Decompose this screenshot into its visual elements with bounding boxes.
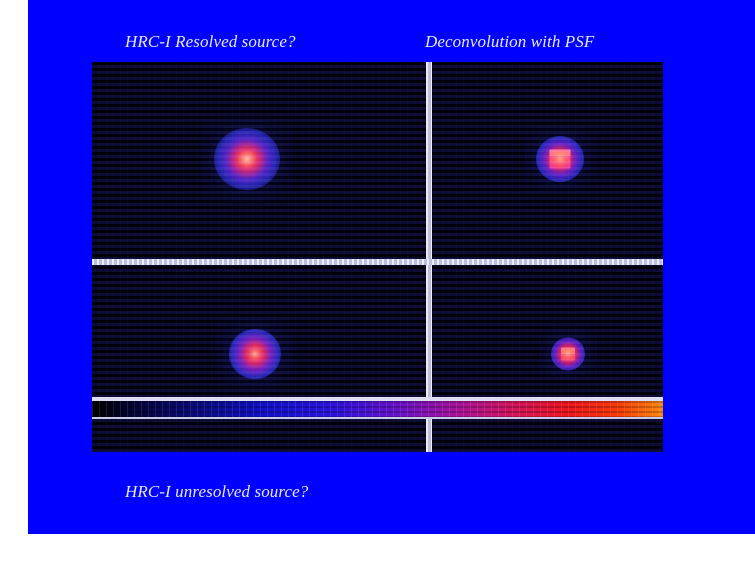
panel-divider-vertical [426,62,432,452]
presentation-slide: HRC-I Resolved source? Deconvolution wit… [28,0,755,534]
psf-core-bottom-left [229,329,281,379]
psf-skirt-bottom-right [539,327,597,382]
psf-core-pixels-top-right [550,150,571,169]
slide-title-right: Deconvolution with PSF [425,32,594,52]
psf-core-top-right [536,136,584,182]
psf-image-mosaic [92,62,663,452]
scanline-texture [92,62,663,452]
psf-core-bottom-right [551,338,585,371]
divider-texture-vertical [426,62,432,452]
colorbar-bottom-border [92,417,663,419]
slide-caption-bottom: HRC-I unresolved source? [125,482,308,502]
psf-core-pixels-bottom-right [561,348,575,361]
psf-skirt-top-right [524,125,596,193]
divider-texture-horizontal [92,259,663,265]
intensity-colorbar [92,401,663,418]
psf-skirt-top-left [201,116,293,202]
colorbar-container [92,397,663,418]
panel-divider-horizontal [92,259,663,265]
colorbar-texture [92,401,663,418]
slide-title-left: HRC-I Resolved source? [125,32,296,52]
column-texture [92,62,663,452]
psf-skirt-bottom-left [215,316,295,392]
psf-core-top-left [214,128,280,190]
